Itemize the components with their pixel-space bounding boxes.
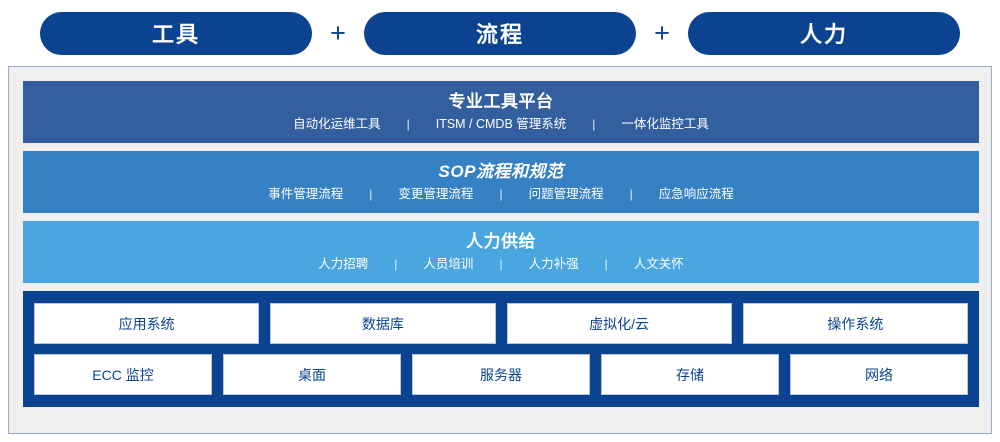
layer-band-sop-process[interactable]: SOP流程和规范 事件管理流程 | 变更管理流程 | 问题管理流程 | 应急响应…: [23, 151, 979, 213]
item-separator-icon: |: [397, 117, 420, 131]
plus-icon-1: +: [312, 20, 364, 47]
layer-item[interactable]: 人员培训: [407, 257, 489, 272]
infrastructure-cell[interactable]: 桌面: [223, 354, 401, 395]
infrastructure-cell[interactable]: 存储: [601, 354, 779, 395]
layer-item[interactable]: 一体化监控工具: [605, 117, 725, 132]
layer-item[interactable]: 人力招聘: [302, 257, 384, 272]
item-separator-icon: |: [582, 117, 605, 131]
infrastructure-cell[interactable]: 网络: [790, 354, 968, 395]
item-separator-icon: |: [489, 187, 512, 201]
header-pill-tool[interactable]: 工具: [40, 12, 312, 55]
capability-frame-inner: 专业工具平台 自动化运维工具 | ITSM / CMDB 管理系统 | 一体化监…: [23, 81, 977, 419]
infrastructure-cell[interactable]: 虚拟化/云: [507, 303, 732, 344]
layer-items-manpower-supply: 人力招聘 | 人员培训 | 人力补强 | 人文关怀: [302, 257, 699, 272]
infrastructure-row-1: 应用系统 数据库 虚拟化/云 操作系统: [34, 303, 968, 344]
item-separator-icon: |: [489, 257, 512, 271]
item-separator-icon: |: [620, 187, 643, 201]
layer-item[interactable]: 应急响应流程: [643, 187, 750, 202]
layer-item[interactable]: 变更管理流程: [382, 187, 489, 202]
capability-frame: 专业工具平台 自动化运维工具 | ITSM / CMDB 管理系统 | 一体化监…: [8, 66, 992, 434]
layer-title-manpower-supply: 人力供给: [466, 232, 536, 252]
layer-title-tool-platform: 专业工具平台: [449, 92, 554, 112]
infrastructure-cell[interactable]: 服务器: [412, 354, 590, 395]
infrastructure-panel: 应用系统 数据库 虚拟化/云 操作系统 ECC 监控 桌面 服务器 存储 网络: [23, 291, 979, 407]
diagram-canvas: 工具 + 流程 + 人力 专业工具平台 自动化运维工具 | ITSM / CMD…: [0, 0, 1000, 442]
item-separator-icon: |: [595, 257, 618, 271]
infrastructure-cell[interactable]: ECC 监控: [34, 354, 212, 395]
item-separator-icon: |: [384, 257, 407, 271]
header-pill-process-label: 流程: [476, 17, 524, 49]
header-pill-manpower[interactable]: 人力: [688, 12, 960, 55]
layer-item[interactable]: ITSM / CMDB 管理系统: [420, 117, 583, 132]
layer-items-tool-platform: 自动化运维工具 | ITSM / CMDB 管理系统 | 一体化监控工具: [277, 117, 725, 132]
header-pill-tool-label: 工具: [152, 17, 200, 49]
layer-item[interactable]: 人力补强: [513, 257, 595, 272]
layer-item[interactable]: 人文关怀: [618, 257, 700, 272]
layer-item[interactable]: 事件管理流程: [252, 187, 359, 202]
layer-item[interactable]: 自动化运维工具: [277, 117, 397, 132]
layer-item[interactable]: 问题管理流程: [513, 187, 620, 202]
header-pill-row: 工具 + 流程 + 人力: [0, 8, 1000, 58]
infrastructure-cell[interactable]: 数据库: [270, 303, 495, 344]
plus-icon-2: +: [636, 20, 688, 47]
header-pill-process[interactable]: 流程: [364, 12, 636, 55]
infrastructure-row-2: ECC 监控 桌面 服务器 存储 网络: [34, 354, 968, 395]
infrastructure-cell[interactable]: 应用系统: [34, 303, 259, 344]
layer-band-tool-platform[interactable]: 专业工具平台 自动化运维工具 | ITSM / CMDB 管理系统 | 一体化监…: [23, 81, 979, 143]
layer-band-manpower-supply[interactable]: 人力供给 人力招聘 | 人员培训 | 人力补强 | 人文关怀: [23, 221, 979, 283]
layer-items-sop-process: 事件管理流程 | 变更管理流程 | 问题管理流程 | 应急响应流程: [252, 187, 749, 202]
layer-title-sop-process: SOP流程和规范: [439, 162, 564, 182]
item-separator-icon: |: [359, 187, 382, 201]
infrastructure-cell[interactable]: 操作系统: [743, 303, 968, 344]
header-pill-manpower-label: 人力: [800, 17, 848, 49]
